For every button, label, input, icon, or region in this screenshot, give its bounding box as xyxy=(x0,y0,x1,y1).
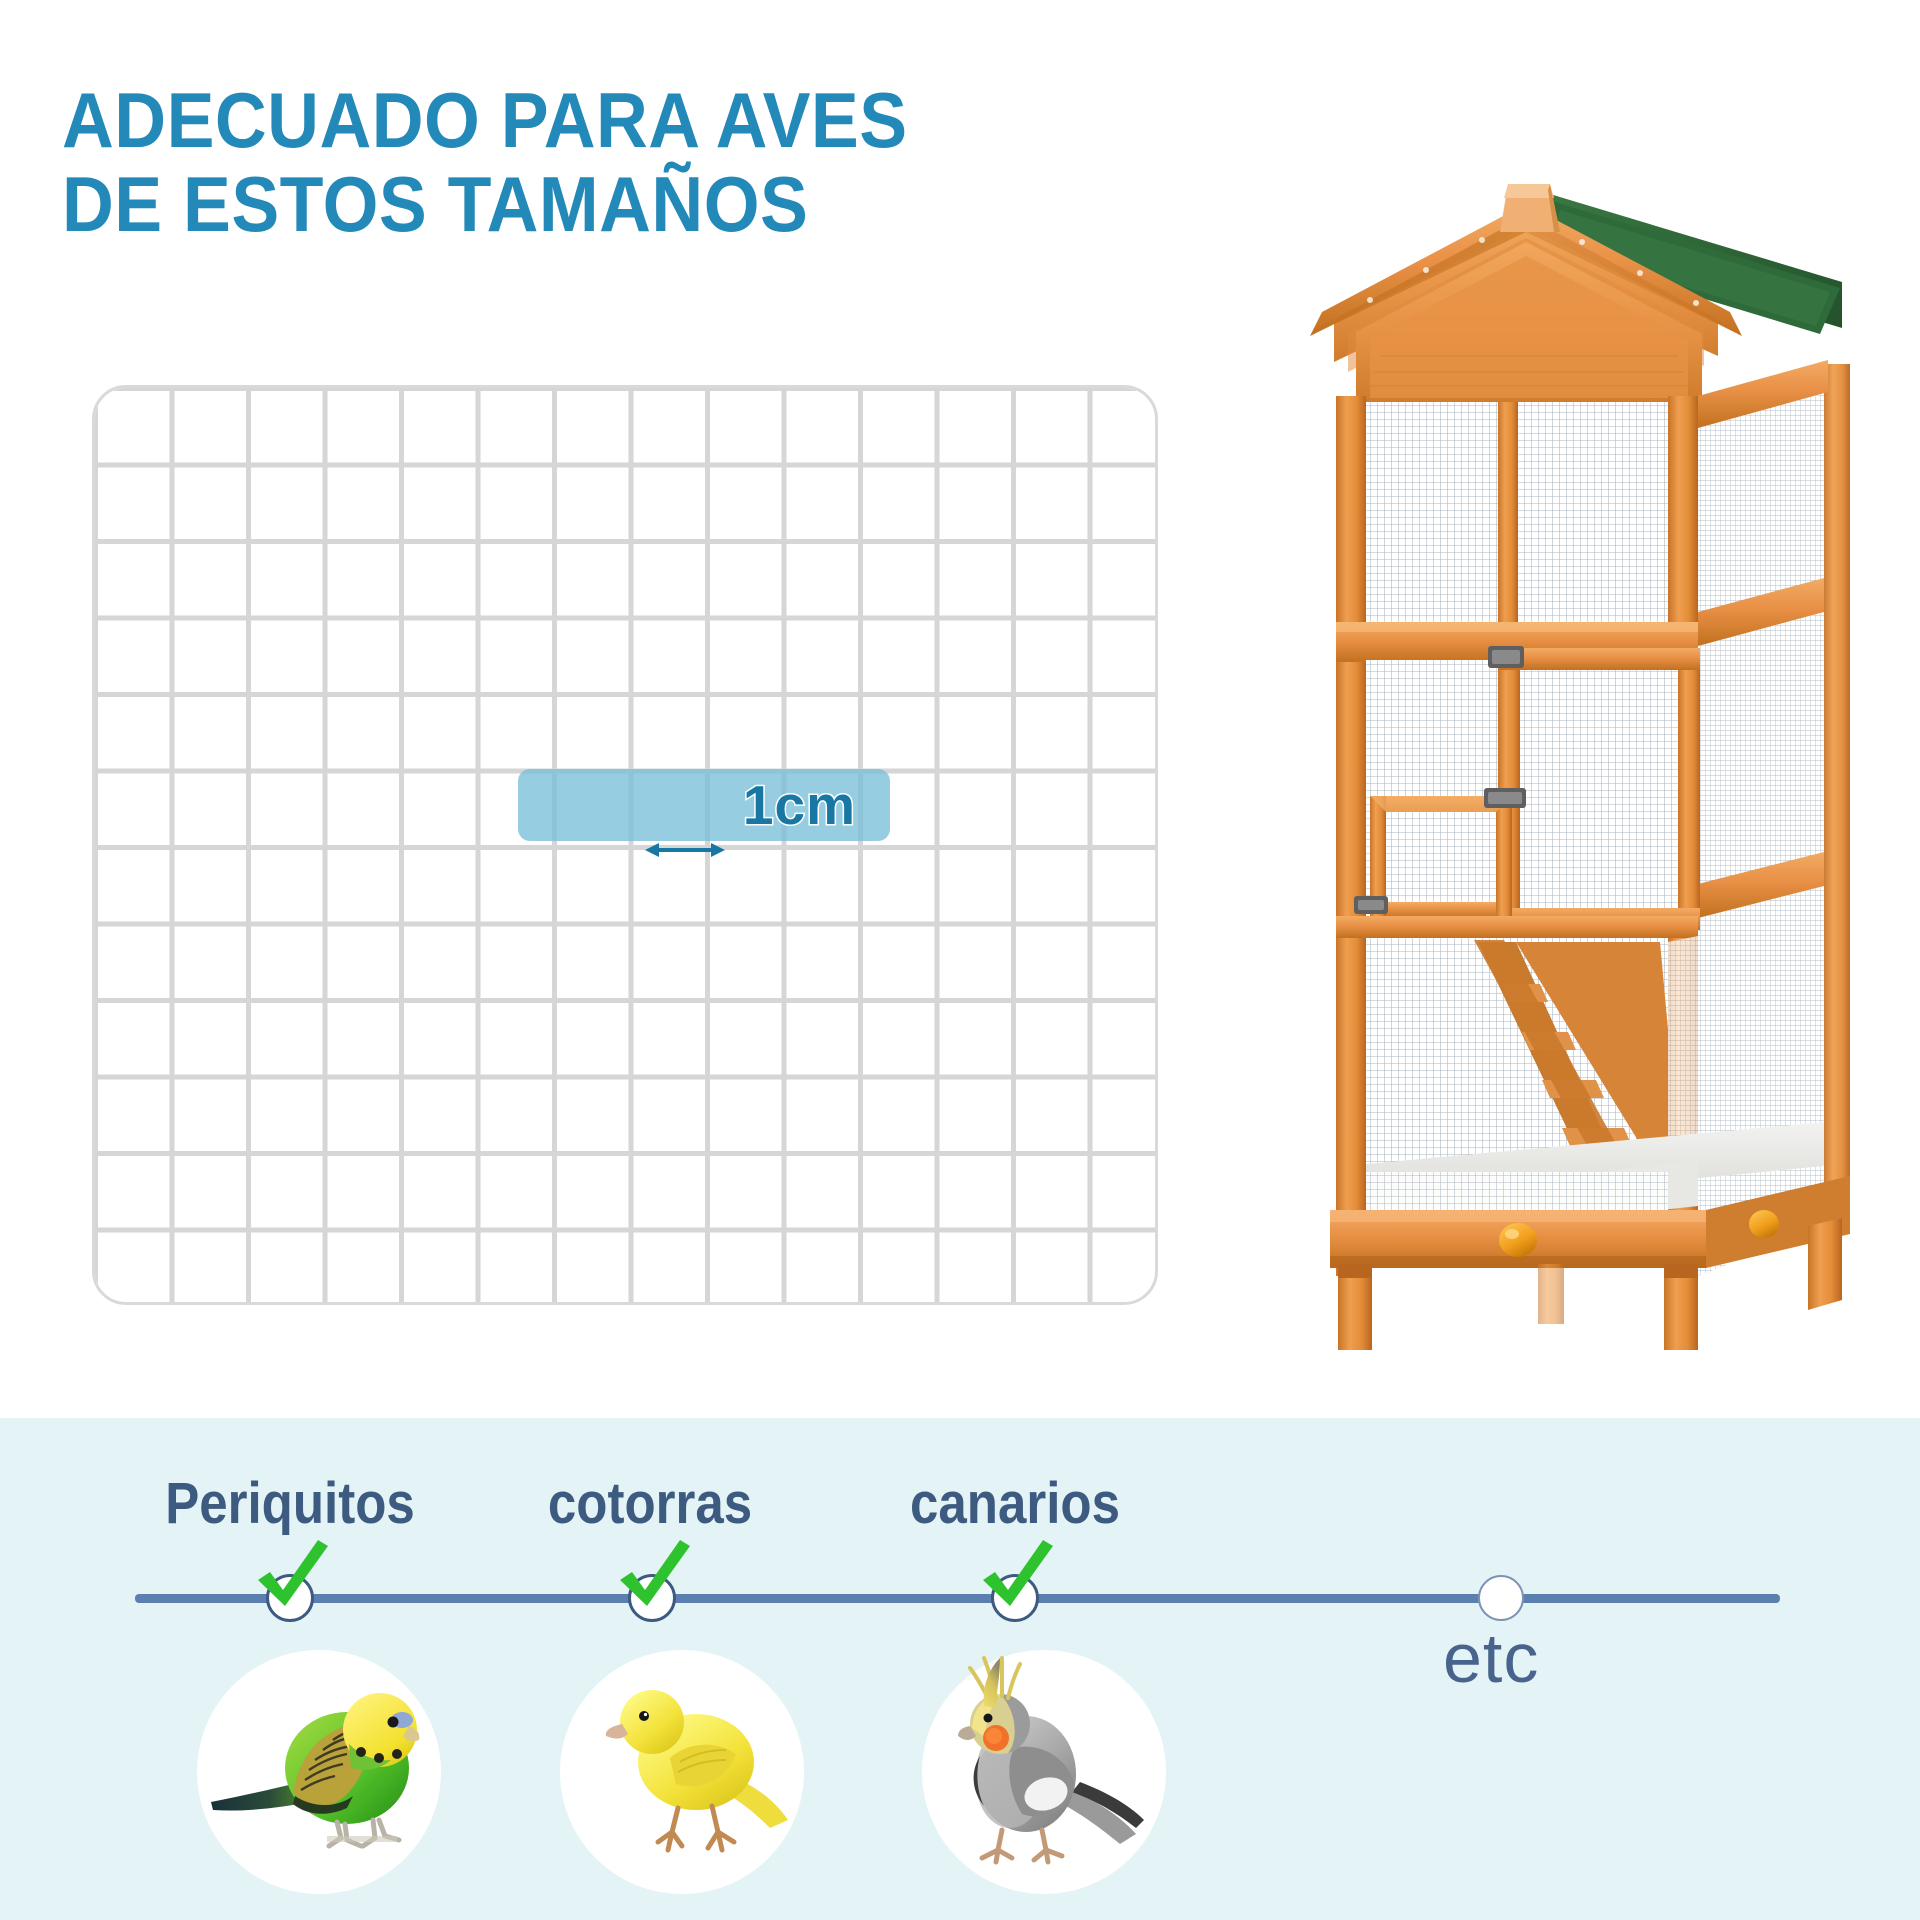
timeline-node-periquitos xyxy=(266,1574,314,1622)
bird-label-periquitos: Periquitos xyxy=(140,1470,439,1537)
bird-label-cotorras: cotorras xyxy=(500,1470,799,1537)
scale-badge: 1cm xyxy=(518,769,890,841)
scale-arrow-icon xyxy=(645,838,725,862)
bird-photo-canarios xyxy=(922,1650,1166,1894)
timeline-node-cotorras xyxy=(628,1574,676,1622)
timeline-node-etc xyxy=(1478,1575,1524,1621)
etc-label: etc xyxy=(1443,1618,1539,1698)
page-title: ADECUADO PARA AVES DE ESTOS TAMAÑOS xyxy=(62,78,982,246)
drawer-knob xyxy=(1499,1223,1537,1257)
infographic-page: ADECUADO PARA AVES DE ESTOS TAMAÑOS 1cm xyxy=(0,0,1920,1920)
grid-lines xyxy=(95,388,1155,1302)
cage-small-door xyxy=(1370,796,1512,918)
scale-badge-label: 1cm xyxy=(743,778,856,833)
timeline-node-canarios xyxy=(991,1574,1039,1622)
cage-main-door xyxy=(1498,648,1700,930)
scale-grid-panel xyxy=(92,385,1158,1305)
bird-photo-cotorras xyxy=(560,1650,804,1894)
bird-label-canarios: canarios xyxy=(865,1470,1164,1537)
product-image-bird-aviary xyxy=(1230,160,1870,1370)
bird-photo-periquitos xyxy=(197,1650,441,1894)
timeline-axis xyxy=(135,1594,1780,1603)
